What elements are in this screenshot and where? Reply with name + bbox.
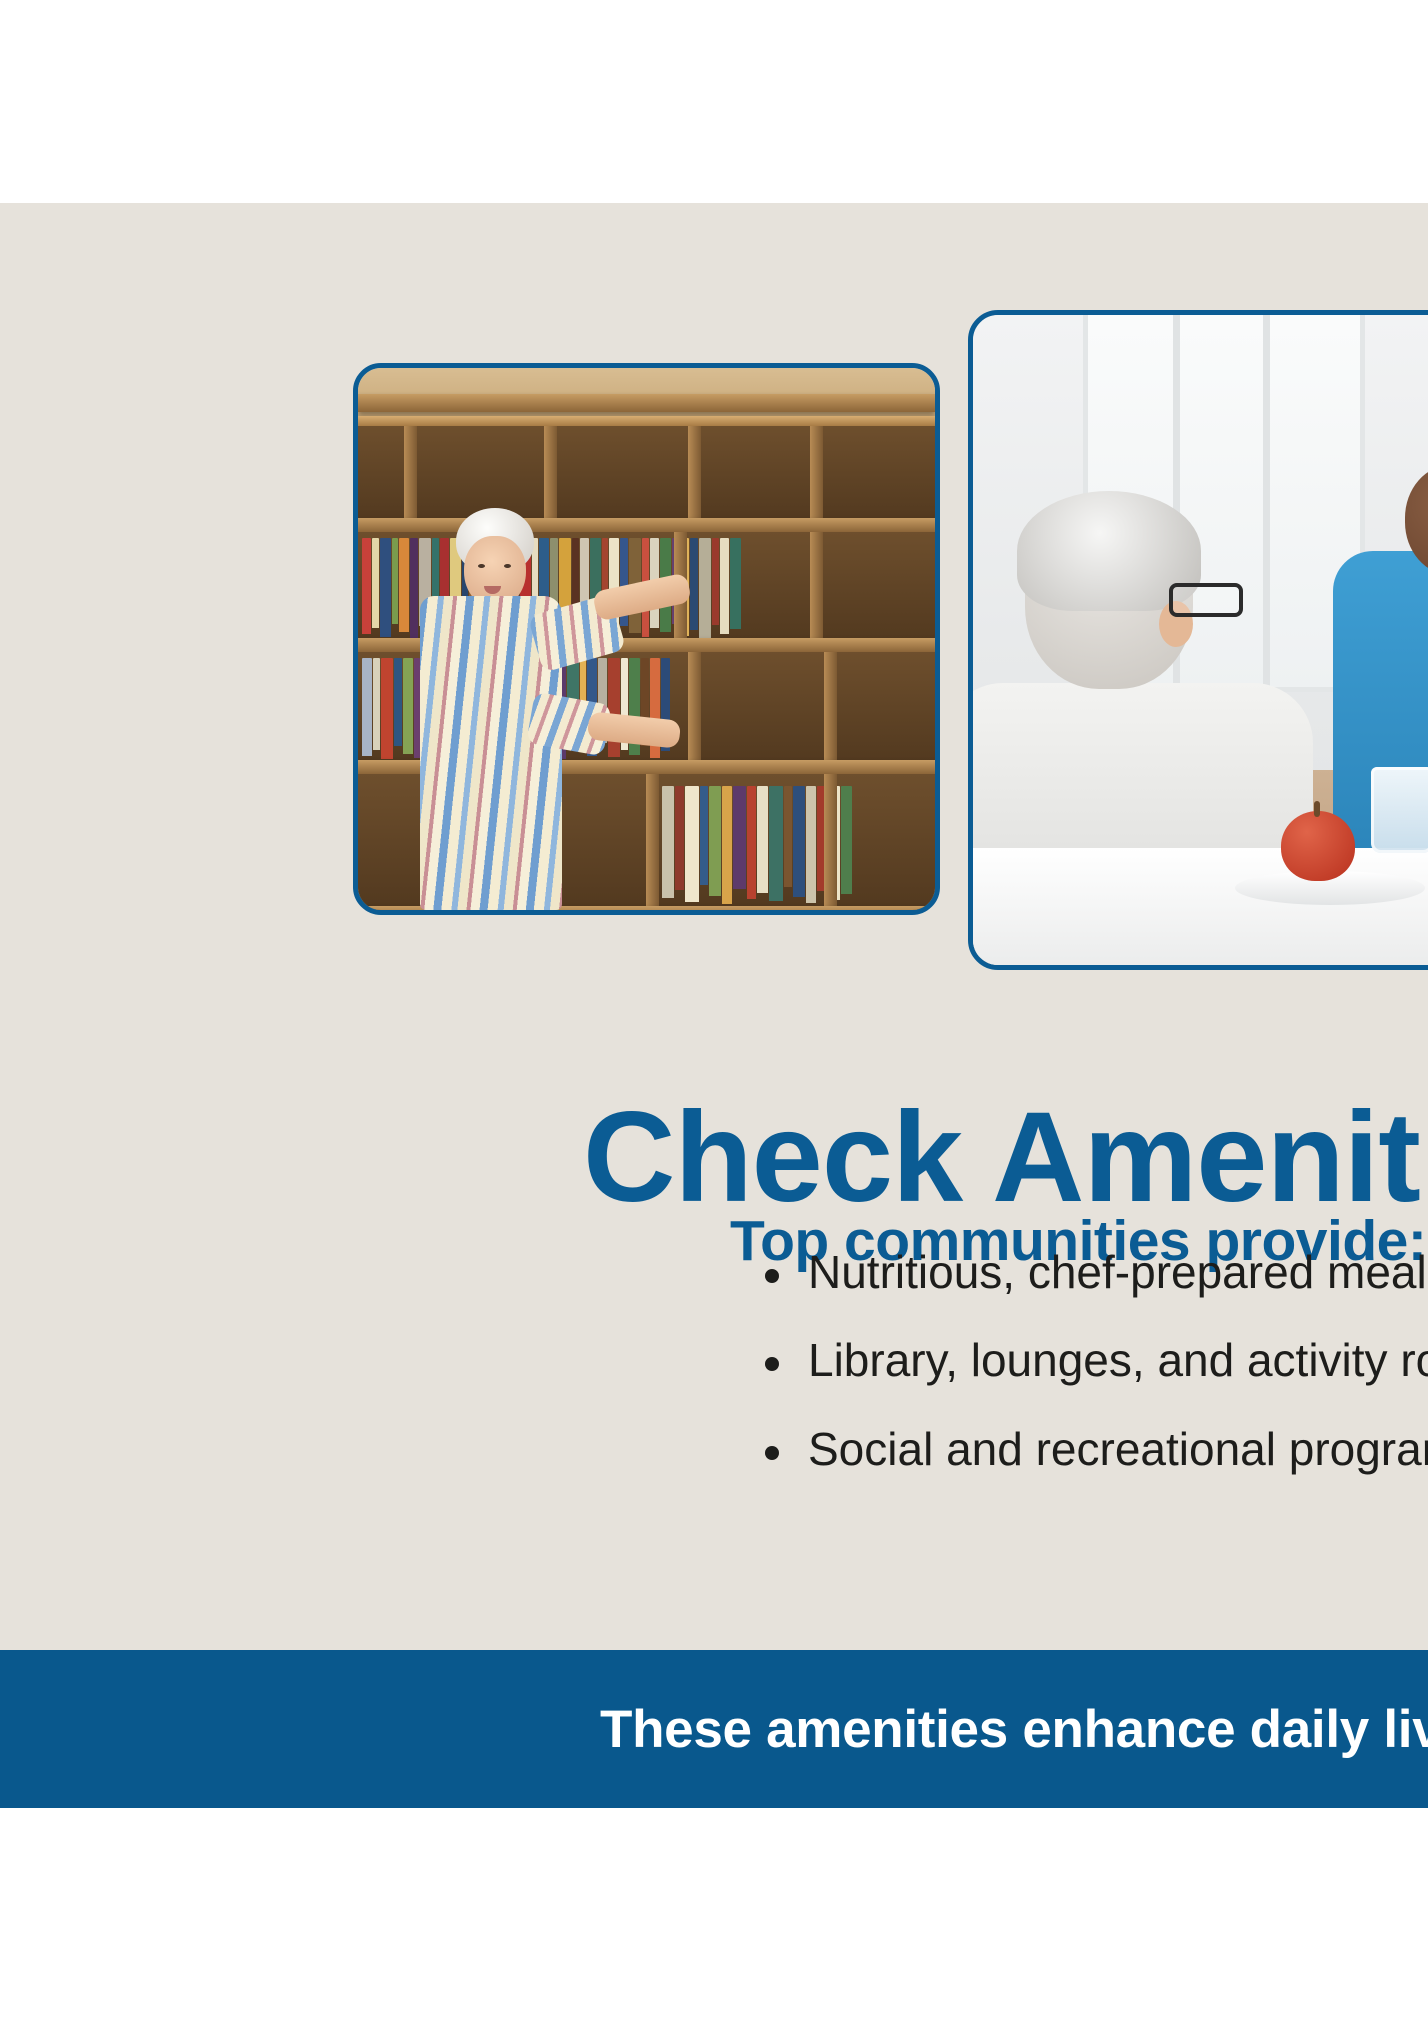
amenities-list: Nutritious, chef-prepared meals daily Li… [760,1245,1428,1510]
shelf-divider [824,774,837,910]
shelf-divider [404,426,417,522]
shelf-board [358,518,935,532]
apple [1281,811,1355,881]
slide-page: Check Amenities and Services Top communi… [0,0,1428,2018]
shelf-board [358,416,935,426]
woman-eye [478,564,485,568]
slide-canvas: Check Amenities and Services Top communi… [0,203,1428,1808]
shelf-divider [544,426,557,522]
dining-photo [973,315,1428,965]
shelf-divider [646,774,659,910]
woman-eye [504,564,511,568]
dining-table [973,848,1428,965]
list-item: Nutritious, chef-prepared meals daily [760,1245,1428,1299]
shelf-divider [810,426,823,522]
eyeglasses [1169,583,1243,617]
shelf-divider [688,652,701,764]
book-row [658,786,935,910]
dining-photo-card [968,310,1428,970]
shelf-divider [688,426,701,522]
page-title: Check Amenities and Services [583,1091,1428,1225]
list-item: Social and recreational programs [760,1422,1428,1476]
footer-banner: These amenities enhance daily living and… [0,1650,1428,1808]
library-photo [358,368,935,910]
water-glass [1371,767,1428,853]
apple-stem [1314,801,1320,817]
footer-banner-text: These amenities enhance daily living and… [600,1699,1428,1760]
shelf-divider [824,652,837,764]
library-photo-card [353,363,940,915]
shelf-cavity [358,426,935,522]
shelf-divider [810,532,823,642]
shelf-board [358,394,935,412]
list-item: Library, lounges, and activity rooms [760,1333,1428,1387]
